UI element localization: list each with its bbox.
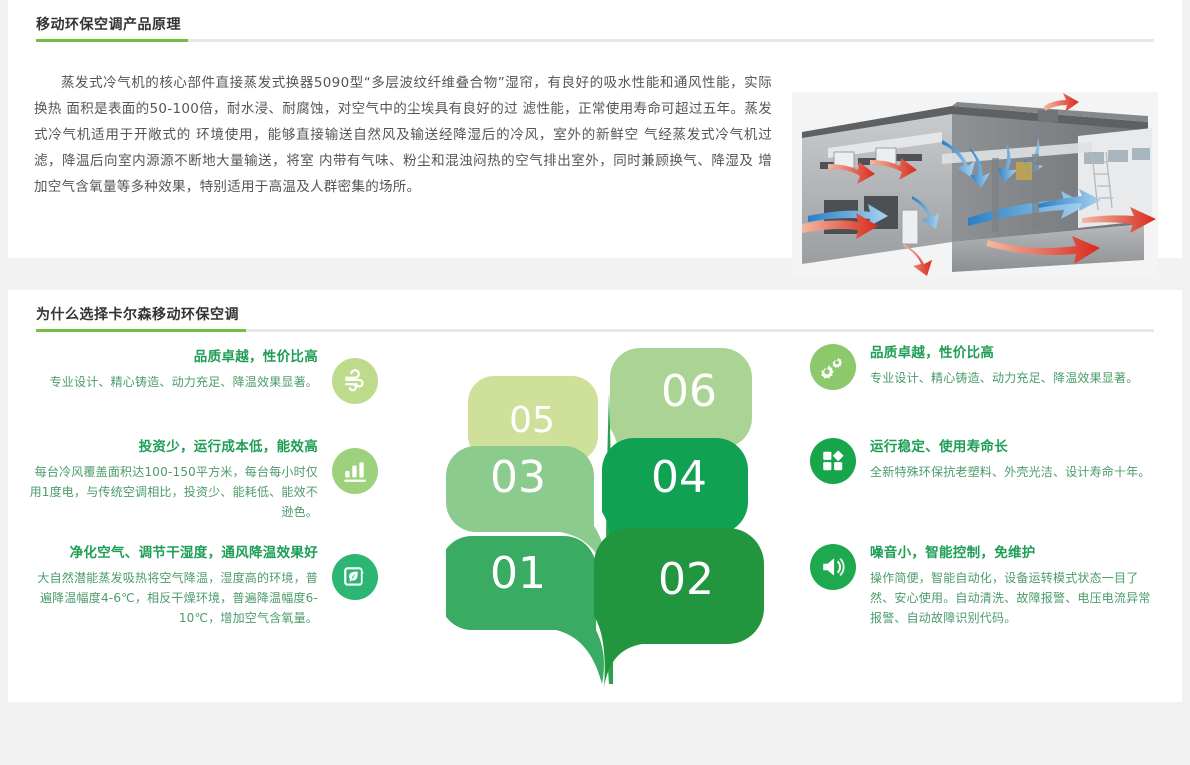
feature-right-stable[interactable]: 运行稳定、使用寿命长 全新特殊环保抗老塑料、外壳光洁、设计寿命十年。 — [810, 436, 1162, 484]
leaf-eco-icon — [332, 554, 378, 600]
feature-title: 品质卓越，性价比高 — [870, 342, 1162, 364]
gears-icon-glyph — [820, 354, 846, 380]
leaf-number-02: 02 — [658, 554, 714, 605]
speaker-sound-icon — [810, 544, 856, 590]
why-header: 为什么选择卡尔森移动环保空调 — [8, 290, 1182, 332]
leaf-eco-icon-glyph — [342, 564, 368, 590]
leaf-bubble-02[interactable] — [594, 528, 764, 688]
blocks-icon — [810, 438, 856, 484]
bar-chart-icon-glyph — [342, 458, 368, 484]
leaf-bubbles-svg: 05 06 03 04 01 02 — [446, 332, 776, 692]
feature-desc: 每台冷风覆盖面积达100-150平方米，每台每小时仅用1度电，与传统空调相比，投… — [26, 462, 318, 522]
feature-title: 噪音小，智能控制，免维护 — [870, 542, 1162, 564]
wind-icon — [332, 358, 378, 404]
section-product-principle: 移动环保空调产品原理 蒸发式冷气机的核心部件直接蒸发式换器5090型“多层波纹纤… — [8, 0, 1182, 258]
feature-right-low-noise[interactable]: 噪音小，智能控制，免维护 操作简便，智能自动化，设备运转模式状态一目了然、安心使… — [810, 542, 1162, 628]
feature-text: 净化空气、调节干湿度，通风降温效果好 大自然潜能蒸发吸热将空气降温，湿度高的环境… — [26, 542, 318, 628]
feature-text: 运行稳定、使用寿命长 全新特殊环保抗老塑料、外壳光洁、设计寿命十年。 — [870, 436, 1162, 482]
feature-title: 运行稳定、使用寿命长 — [870, 436, 1162, 458]
leaf-number-06: 06 — [661, 366, 717, 417]
bar-chart-icon — [332, 448, 378, 494]
page-root: 移动环保空调产品原理 蒸发式冷气机的核心部件直接蒸发式换器5090型“多层波纹纤… — [0, 0, 1190, 765]
section-why-choose: 为什么选择卡尔森移动环保空调 品质卓越，性价比高 专业设计、精心铸造、动力充足、… — [8, 290, 1182, 702]
speaker-sound-icon-glyph — [820, 554, 846, 580]
gears-icon — [810, 344, 856, 390]
why-body: 品质卓越，性价比高 专业设计、精心铸造、动力充足、降温效果显著。 投资少，运行成… — [8, 332, 1182, 692]
feature-title: 净化空气、调节干湿度，通风降温效果好 — [26, 542, 318, 564]
feature-text: 噪音小，智能控制，免维护 操作简便，智能自动化，设备运转模式状态一目了然、安心使… — [870, 542, 1162, 628]
blocks-icon-glyph — [820, 448, 846, 474]
why-title: 为什么选择卡尔森移动环保空调 — [36, 304, 239, 324]
feature-right-quality[interactable]: 品质卓越，性价比高 专业设计、精心铸造、动力充足、降温效果显著。 — [810, 342, 1162, 390]
feature-title: 品质卓越，性价比高 — [26, 346, 318, 368]
leaf-number-graphic: 05 06 03 04 01 02 — [446, 332, 776, 692]
feature-left-low-cost[interactable]: 投资少，运行成本低，能效高 每台冷风覆盖面积达100-150平方米，每台每小时仅… — [26, 436, 378, 522]
feature-desc: 大自然潜能蒸发吸热将空气降温，湿度高的环境，普遍降温幅度4-6℃，相反干燥环境，… — [26, 568, 318, 628]
feature-left-purify-air[interactable]: 净化空气、调节干湿度，通风降温效果好 大自然潜能蒸发吸热将空气降温，湿度高的环境… — [26, 542, 378, 628]
principle-paragraph: 蒸发式冷气机的核心部件直接蒸发式换器5090型“多层波纹纤维叠合物”湿帘，有良好… — [34, 70, 772, 200]
feature-desc: 专业设计、精心铸造、动力充足、降温效果显著。 — [26, 372, 318, 392]
page-title: 移动环保空调产品原理 — [36, 14, 181, 34]
wind-icon-glyph — [342, 368, 368, 394]
leaf-number-01: 01 — [490, 548, 546, 599]
leaf-number-05: 05 — [509, 400, 555, 441]
leaf-number-03: 03 — [490, 452, 546, 503]
feature-desc: 全新特殊环保抗老塑料、外壳光洁、设计寿命十年。 — [870, 462, 1162, 482]
feature-left-quality[interactable]: 品质卓越，性价比高 专业设计、精心铸造、动力充足、降温效果显著。 — [26, 346, 378, 404]
product-illustration — [792, 92, 1158, 278]
feature-desc: 操作简便，智能自动化，设备运转模式状态一目了然、安心使用。自动清洗、故障报警、电… — [870, 568, 1162, 628]
warehouse-airflow-diagram — [792, 92, 1158, 278]
feature-title: 投资少，运行成本低，能效高 — [26, 436, 318, 458]
leaf-number-04: 04 — [651, 452, 707, 503]
feature-desc: 专业设计、精心铸造、动力充足、降温效果显著。 — [870, 368, 1162, 388]
feature-text: 品质卓越，性价比高 专业设计、精心铸造、动力充足、降温效果显著。 — [870, 342, 1162, 388]
feature-text: 品质卓越，性价比高 专业设计、精心铸造、动力充足、降温效果显著。 — [26, 346, 318, 392]
principle-header: 移动环保空调产品原理 — [8, 0, 1182, 42]
feature-text: 投资少，运行成本低，能效高 每台冷风覆盖面积达100-150平方米，每台每小时仅… — [26, 436, 318, 522]
principle-body: 蒸发式冷气机的核心部件直接蒸发式换器5090型“多层波纹纤维叠合物”湿帘，有良好… — [8, 42, 1182, 58]
